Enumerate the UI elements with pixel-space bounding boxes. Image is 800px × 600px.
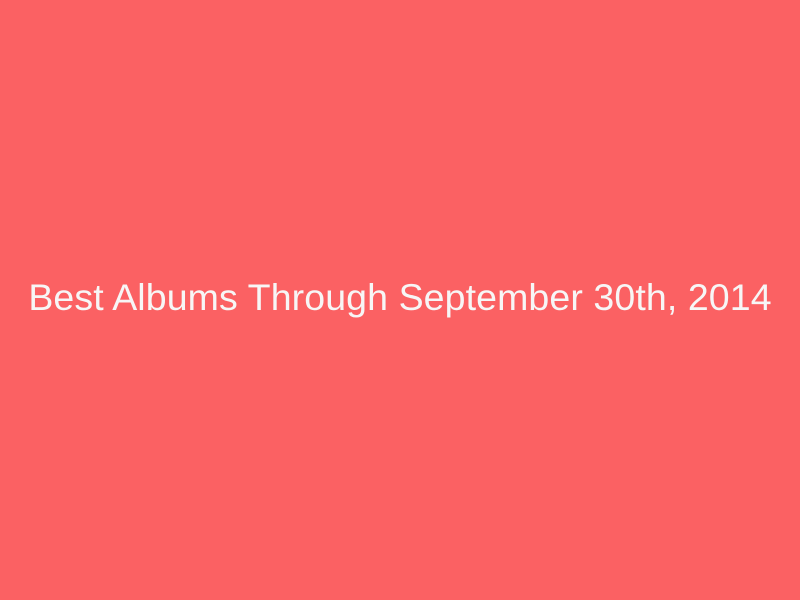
banner-title: Best Albums Through September 30th, 2014 bbox=[8, 276, 791, 319]
placeholder-banner: Best Albums Through September 30th, 2014 bbox=[0, 0, 800, 600]
